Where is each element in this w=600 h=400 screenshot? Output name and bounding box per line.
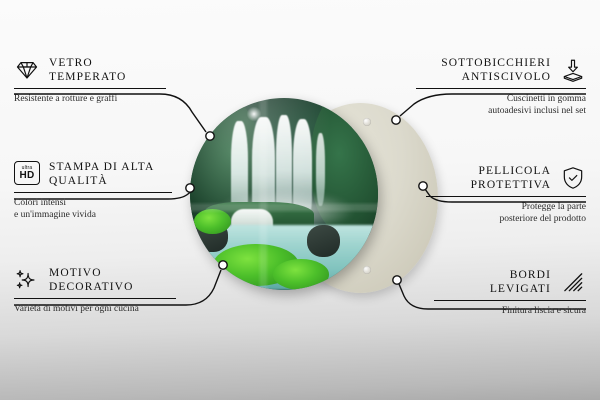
feature-title-line1: VETRO xyxy=(49,57,93,69)
feature-title-line2: QUALITÀ xyxy=(49,175,108,187)
callout-dot xyxy=(393,276,401,284)
feature-divider xyxy=(434,300,586,301)
feature-divider xyxy=(14,88,166,89)
feature-title-line2: LEVIGATI xyxy=(490,283,551,295)
feature-divider xyxy=(426,196,586,197)
feature-vetro-temperato: VETRO TEMPERATO Resistente a rotture e g… xyxy=(14,56,166,105)
smooth-edges-lines-icon xyxy=(560,269,586,295)
feature-subtitle-line1: Cuscinetti in gomma xyxy=(507,94,586,104)
press-down-pad-icon xyxy=(560,57,586,83)
feature-subtitle-line2: posteriore del prodotto xyxy=(499,214,586,224)
callout-dot xyxy=(219,261,227,269)
feature-title-line1: MOTIVO xyxy=(49,267,102,279)
feature-title-line2: PROTETTIVA xyxy=(471,179,551,191)
feature-title-line1: STAMPA DI ALTA xyxy=(49,161,154,173)
feature-title-line1: PELLICOLA xyxy=(478,165,551,177)
feature-bordi-levigati: BORDI LEVIGATI Finitura liscia e sicura xyxy=(434,268,586,317)
feature-divider xyxy=(416,88,586,89)
feature-title-line2: ANTISCIVOLO xyxy=(462,71,551,83)
infographic-canvas: VETRO TEMPERATO Resistente a rotture e g… xyxy=(0,0,600,400)
feature-subtitle: Resistente a rotture e graffi xyxy=(14,93,166,105)
feature-title-line1: SOTTOBICCHIERI xyxy=(441,57,551,69)
feature-subtitle-line2: autoadesivi inclusi nel set xyxy=(488,106,586,116)
callout-dot xyxy=(186,184,194,192)
hd-badge-bottom: HD xyxy=(19,171,34,181)
feature-stampa-alta-qualita: ultra HD STAMPA DI ALTA QUALITÀ Colori i… xyxy=(14,160,172,221)
feature-title-line2: DECORATIVO xyxy=(49,281,133,293)
feature-subtitle: Finitura liscia e sicura xyxy=(434,305,586,317)
feature-motivo-decorativo: MOTIVO DECORATIVO Varietà di motivi per … xyxy=(14,266,176,315)
feature-subtitle-line1: Protegge la parte xyxy=(522,202,586,212)
feature-subtitle: Varietà di motivi per ogni cucina xyxy=(14,303,176,315)
feature-divider xyxy=(14,298,176,299)
feature-sottobicchieri-antiscivolo: SOTTOBICCHIERI ANTISCIVOLO Cuscinetti in… xyxy=(416,56,586,117)
callout-dot xyxy=(206,132,214,140)
shield-check-icon xyxy=(560,165,586,191)
ultra-hd-badge-icon: ultra HD xyxy=(14,161,40,187)
feature-subtitle-line1: Colori intensi xyxy=(14,198,66,208)
feature-pellicola-protettiva: PELLICOLA PROTETTIVA Protegge la parte p… xyxy=(426,164,586,225)
feature-divider xyxy=(14,192,172,193)
diamond-icon xyxy=(14,57,40,83)
sparkles-icon xyxy=(14,267,40,293)
callout-dot xyxy=(392,116,400,124)
feature-subtitle-line2: e un'immagine vivida xyxy=(14,210,96,220)
feature-title-line1: BORDI xyxy=(510,269,551,281)
feature-title-line2: TEMPERATO xyxy=(49,71,126,83)
